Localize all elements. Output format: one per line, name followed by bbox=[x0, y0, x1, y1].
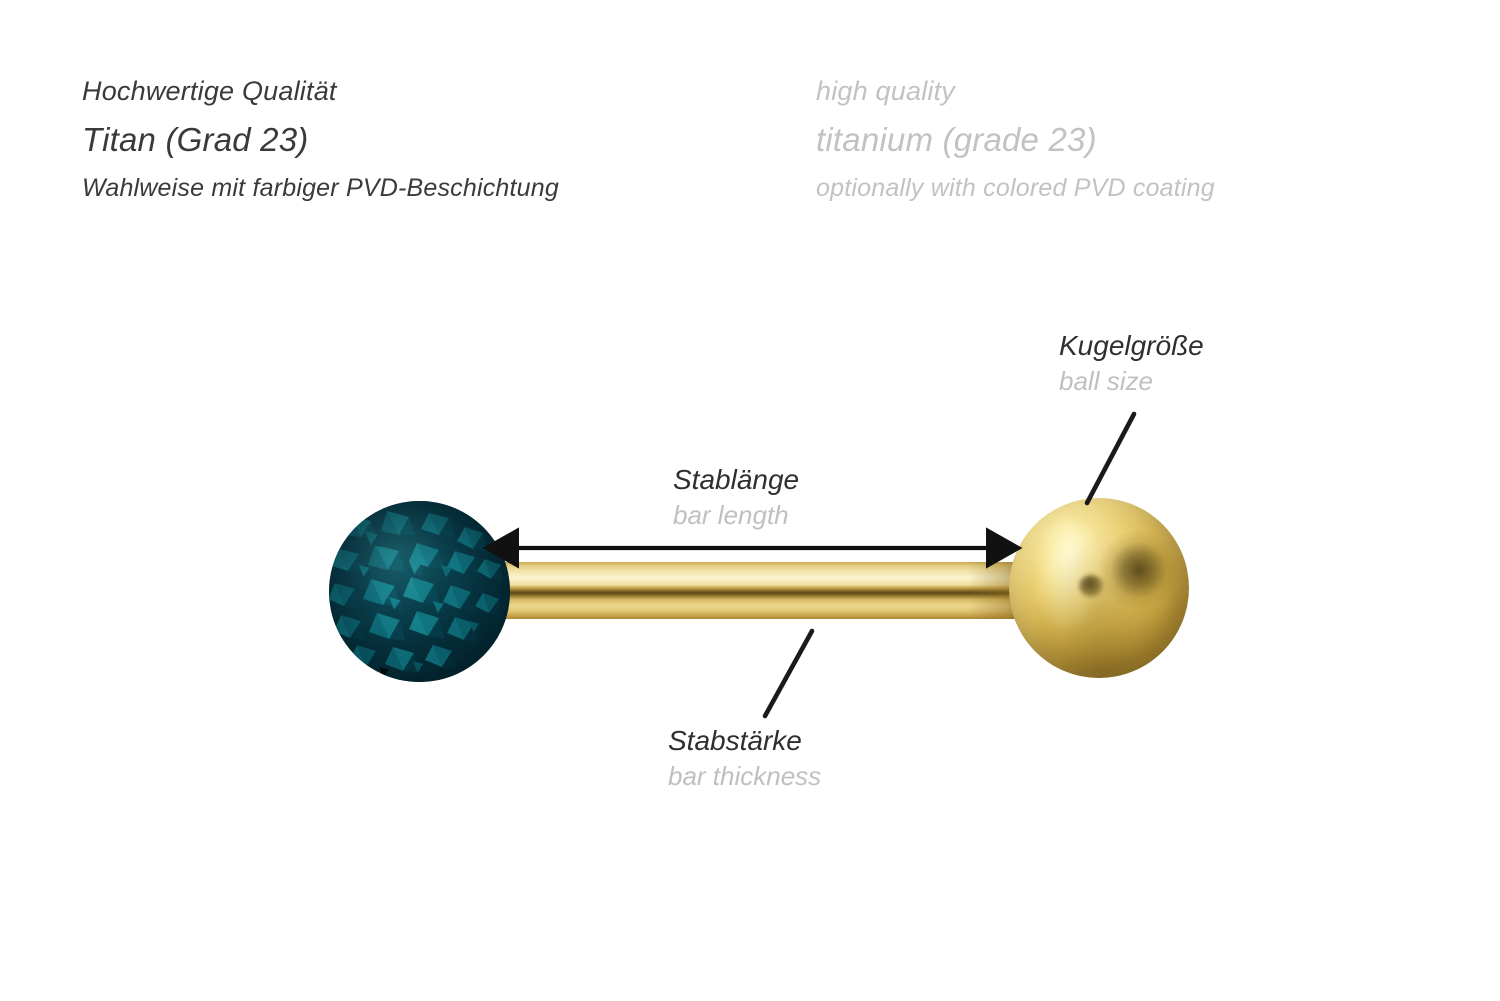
product-diagram-canvas: Hochwertige Qualität Titan (Grad 23) Wah… bbox=[0, 0, 1500, 1001]
callout-ball-size: Kugelgröße ball size bbox=[1059, 327, 1204, 399]
callout-bar-length: Stablänge bar length bbox=[673, 461, 799, 533]
callout-bar-length-en: bar length bbox=[673, 498, 799, 533]
crystal-ball bbox=[329, 501, 510, 682]
callout-bar-thickness: Stabstärke bar thickness bbox=[668, 722, 821, 794]
callout-ball-size-en: ball size bbox=[1059, 364, 1204, 399]
gold-ball-bottom-shading bbox=[1009, 498, 1189, 678]
callout-bar-length-de: Stablänge bbox=[673, 461, 799, 498]
crystal-facets bbox=[329, 501, 510, 682]
callout-bar-thickness-en: bar thickness bbox=[668, 759, 821, 794]
callout-bar-thickness-de: Stabstärke bbox=[668, 722, 821, 759]
callout-ball-size-de: Kugelgröße bbox=[1059, 327, 1204, 364]
bar-shaft bbox=[498, 562, 1018, 619]
